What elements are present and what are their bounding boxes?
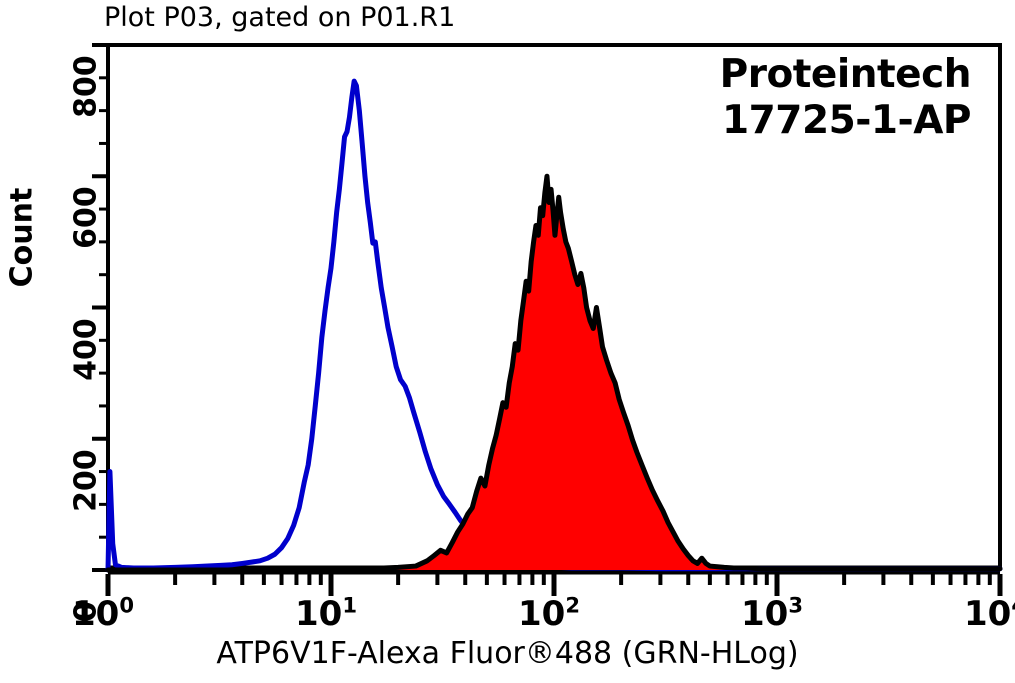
y-axis-title: Count [5,178,40,298]
x-axis-tick-label: 101 [295,594,357,634]
x-axis-tick-label: 104 [964,594,1015,634]
x-axis-title: ATP6V1F-Alexa Fluor®488 (GRN-HLog) [0,636,1015,671]
page-title: Plot P03, gated on P01.R1 [104,2,455,33]
x-axis-tick-label: 100 [72,594,134,634]
y-axis-tick-label: 400 [69,309,104,389]
x-axis-tick-label: 103 [741,594,803,634]
x-axis-tick-label: 102 [518,594,580,634]
y-axis-tick-label: 800 [69,47,104,127]
brand-watermark: Proteintech 17725-1-AP [720,52,971,144]
flow-cytometry-figure: Plot P03, gated on P01.R1 Proteintech 17… [0,0,1015,683]
y-axis-tick-label: 200 [69,440,104,520]
brand-name: Proteintech [720,52,971,98]
y-axis-tick-label: 600 [69,178,104,258]
catalog-number: 17725-1-AP [720,98,971,144]
